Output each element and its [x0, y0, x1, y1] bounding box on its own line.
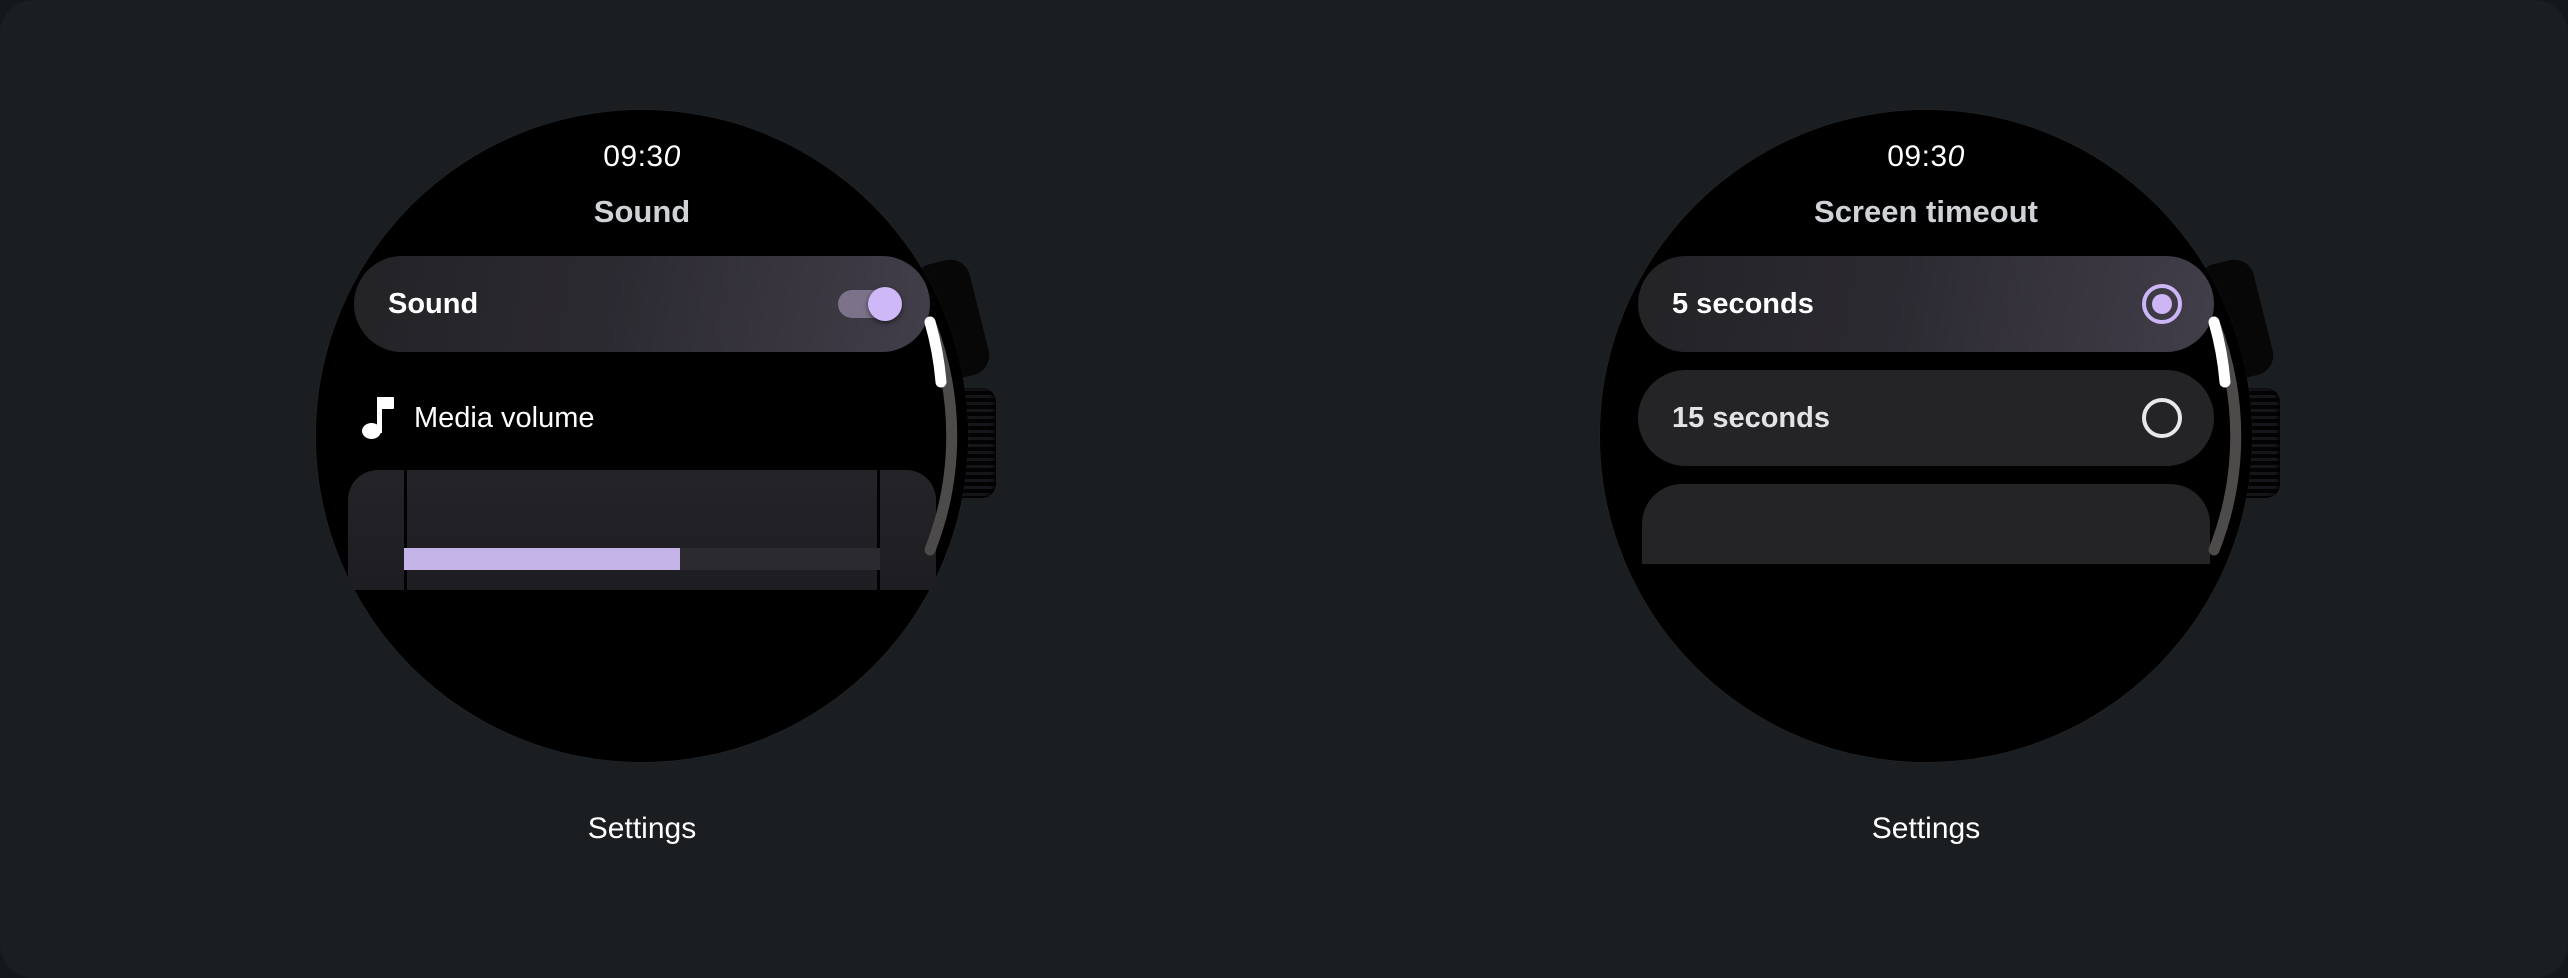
- status-time-oblique: 0: [1948, 140, 1965, 173]
- music-note-flag: [377, 397, 394, 409]
- watch-preview-screen-timeout: 09:30 Screen timeout 5 seconds 15 second…: [1284, 0, 2568, 978]
- smartwatch-device: 09:30 Sound Sound: [316, 110, 968, 762]
- list-item-media-volume[interactable]: Media volume: [354, 370, 930, 466]
- list-item-label: Sound: [388, 288, 838, 321]
- watch-screen: 09:30 Screen timeout 5 seconds 15 second…: [1600, 110, 2252, 762]
- status-bar-time: 09:30: [1600, 140, 2252, 174]
- radio-button-unselected[interactable]: [2142, 398, 2182, 438]
- page-title: Sound: [316, 194, 968, 230]
- sound-toggle-switch[interactable]: [838, 287, 900, 321]
- scrollbar-track: [2214, 322, 2236, 550]
- scrollbar-thumb[interactable]: [2214, 322, 2225, 382]
- status-bar-time: 09:30: [316, 140, 968, 174]
- list-item-partial[interactable]: [1642, 484, 2210, 564]
- list-item-5-seconds[interactable]: 5 seconds: [1638, 256, 2214, 352]
- watch-preview-sound: 09:30 Sound Sound: [0, 0, 1284, 978]
- music-note-icon: [362, 397, 396, 439]
- radio-button-selected[interactable]: [2142, 284, 2182, 324]
- settings-list: 5 seconds 15 seconds: [1638, 256, 2214, 762]
- watch-caption: Settings: [1284, 812, 2568, 846]
- list-item-label: Media volume: [414, 402, 595, 435]
- volume-slider-fill: [404, 548, 680, 570]
- volume-slider-track[interactable]: [404, 548, 880, 570]
- list-item-sound-toggle[interactable]: Sound: [354, 256, 930, 352]
- slider-card-edge-right: [877, 470, 880, 590]
- status-time-text: 09:3: [1887, 140, 1947, 173]
- scrollbar-thumb[interactable]: [930, 322, 941, 382]
- list-item-15-seconds[interactable]: 15 seconds: [1638, 370, 2214, 466]
- screenshot-canvas: 09:30 Sound Sound: [0, 0, 2568, 978]
- toggle-thumb: [868, 287, 902, 321]
- watch-caption: Settings: [0, 812, 1284, 846]
- watch-screen: 09:30 Sound Sound: [316, 110, 968, 762]
- list-item-label: 15 seconds: [1672, 402, 2142, 435]
- status-time-text: 09:3: [603, 140, 663, 173]
- slider-card-edge-left: [404, 470, 407, 590]
- smartwatch-device: 09:30 Screen timeout 5 seconds 15 second…: [1600, 110, 2252, 762]
- status-time-oblique: 0: [664, 140, 681, 173]
- media-volume-slider-card[interactable]: [348, 470, 936, 590]
- settings-list: Sound Media volume: [354, 256, 930, 762]
- page-title: Screen timeout: [1600, 194, 2252, 230]
- list-item-label: 5 seconds: [1672, 288, 2142, 321]
